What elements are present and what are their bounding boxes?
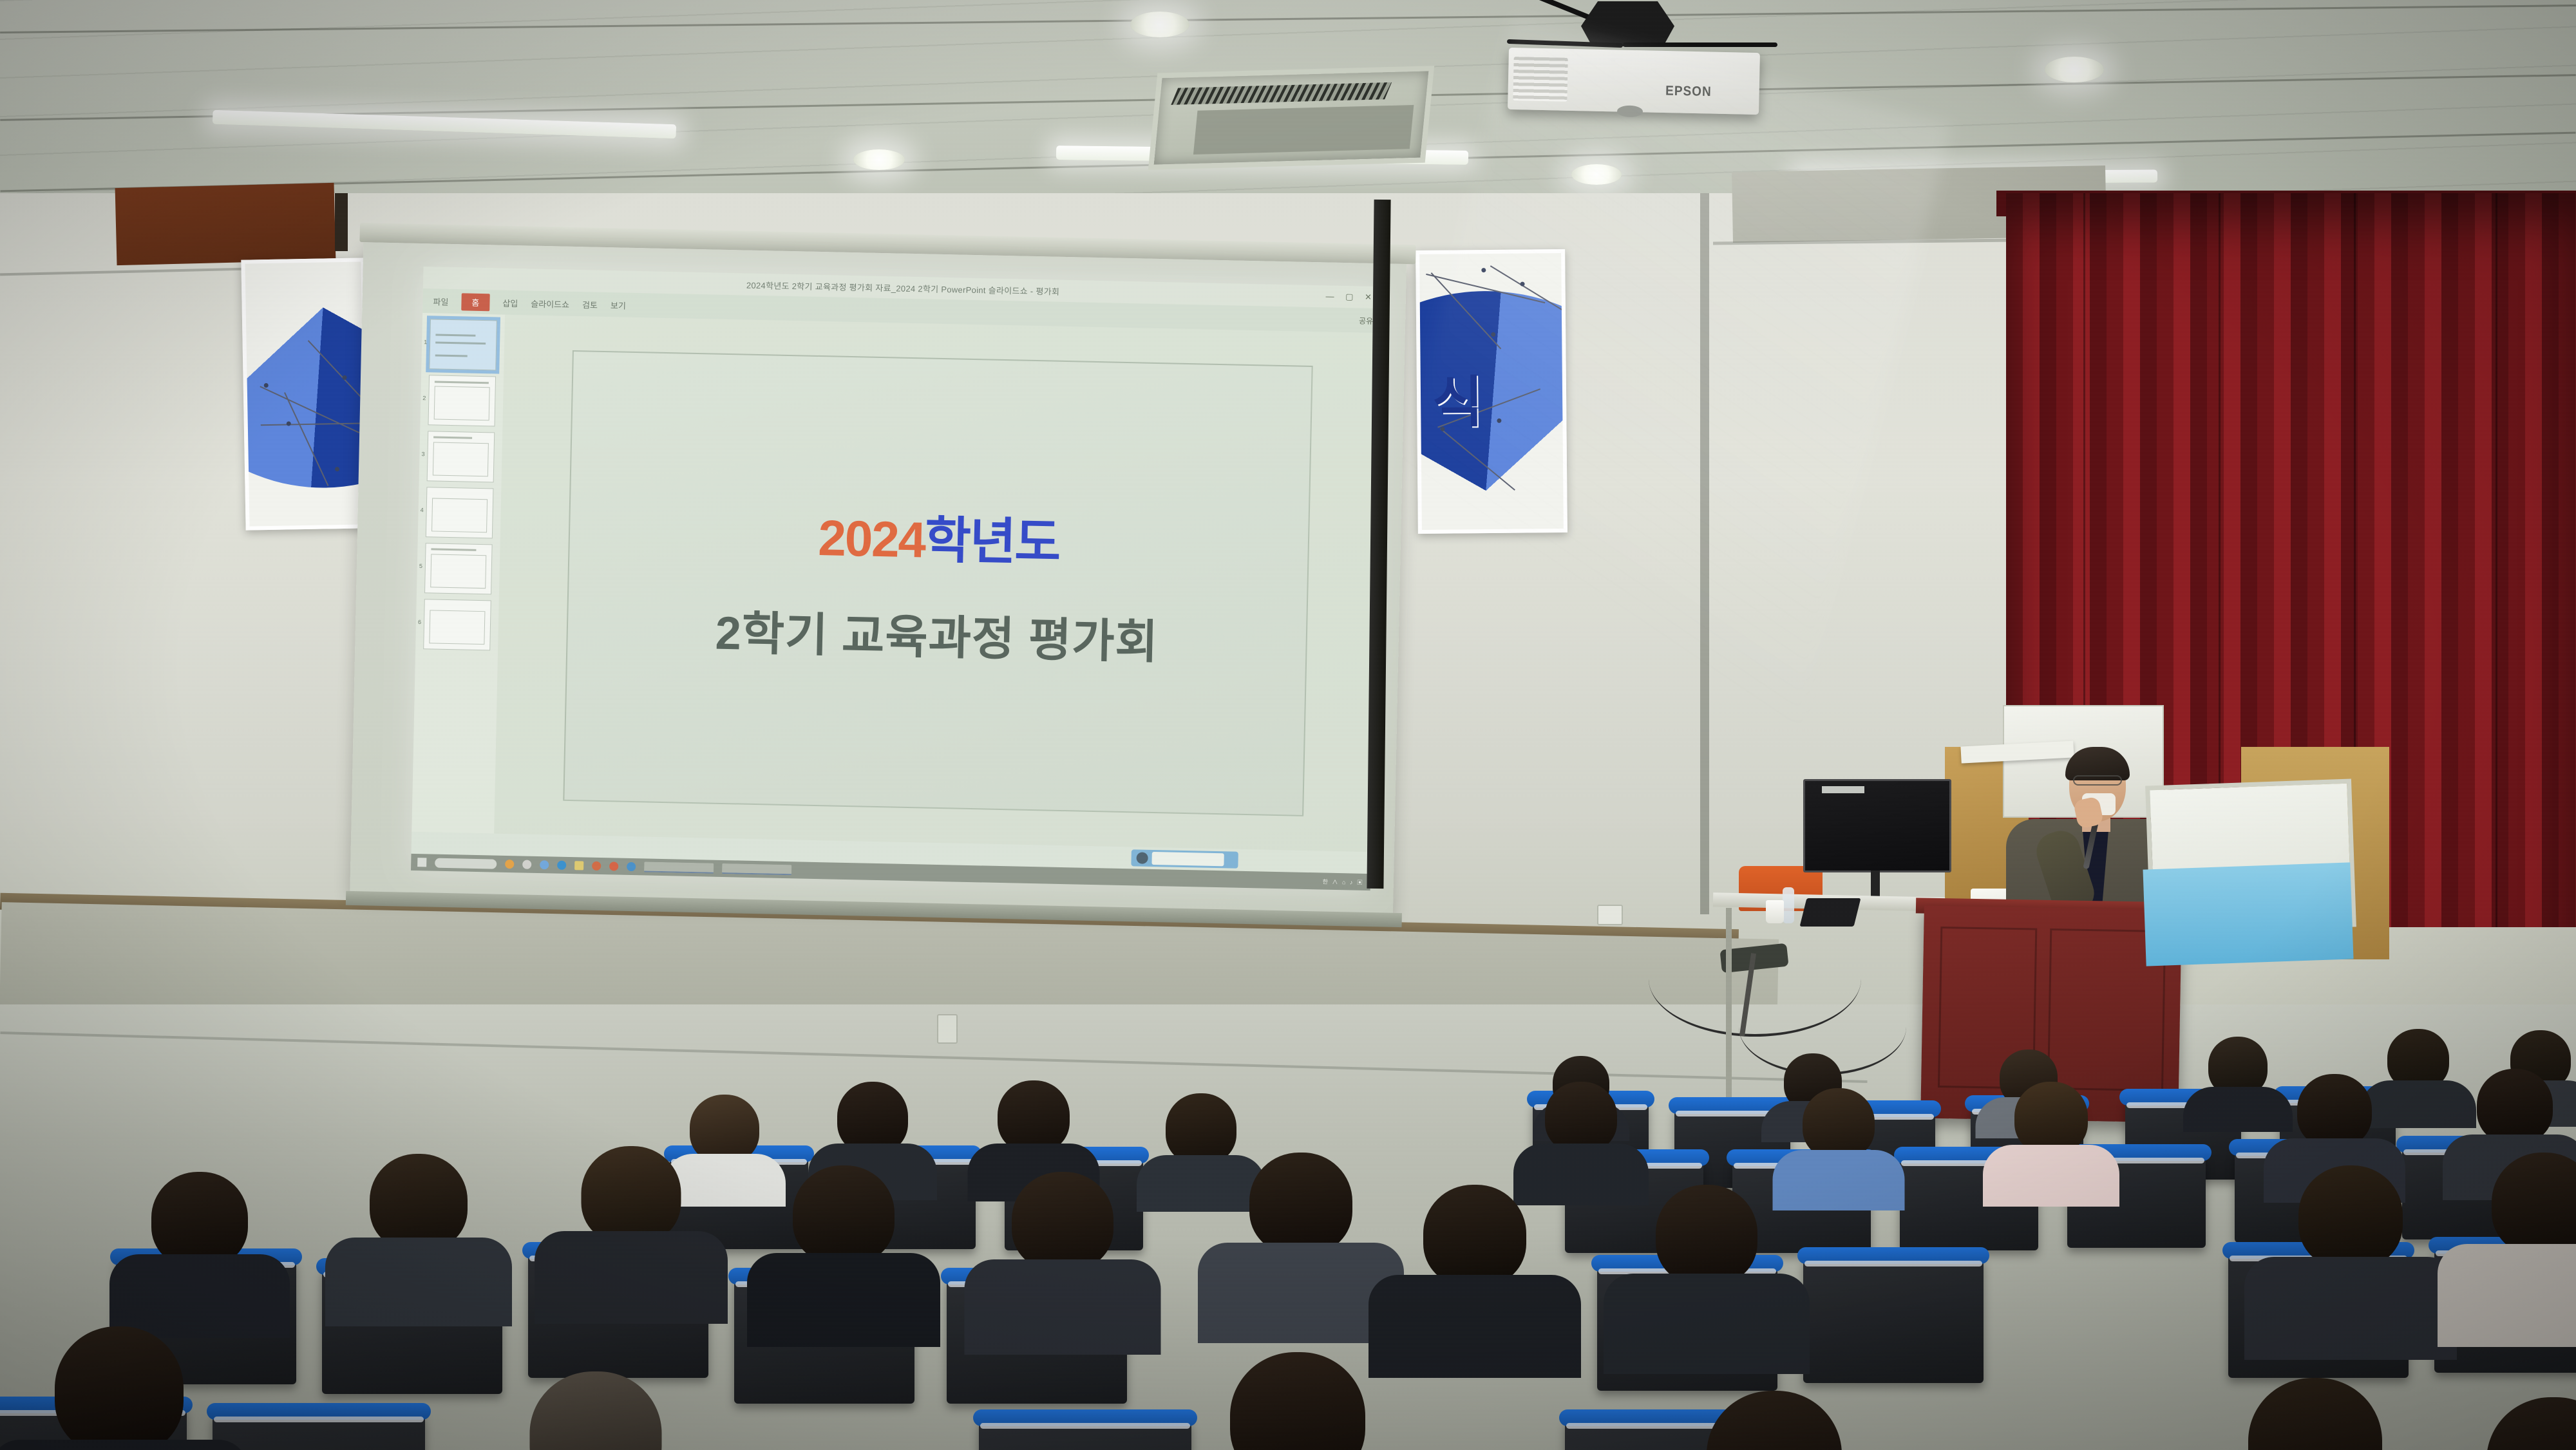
projector: EPSON <box>1508 48 1760 115</box>
person-head <box>370 1154 468 1250</box>
ceiling-downlight <box>1571 164 1622 185</box>
person-head <box>2297 1074 2372 1147</box>
ribbon-tab-review[interactable]: 검토 <box>582 298 598 310</box>
taskbar-window-button[interactable]: 2024학년도 2학기... <box>644 862 714 873</box>
wall-seam <box>1700 193 1709 914</box>
desk-monitor <box>1803 779 1951 872</box>
slide-thumbnail-number: 3 <box>421 451 424 457</box>
person-head <box>1230 1352 1365 1450</box>
projector-ceiling-mount <box>1581 1 1674 46</box>
slide-thumbnail[interactable]: 5 <box>424 543 493 594</box>
audience-member <box>2293 1165 2409 1326</box>
seat[interactable] <box>213 1410 425 1450</box>
slide-thumbnail[interactable]: 1 <box>429 319 497 370</box>
ribbon-tab-slideshow[interactable]: 슬라이드쇼 <box>531 297 569 310</box>
banner-right: 식 <box>1416 249 1567 534</box>
person-shoulders <box>1983 1145 2119 1207</box>
person-shoulders <box>0 1440 248 1450</box>
wall-outlet <box>1597 905 1623 925</box>
monitor-label-sticker <box>1822 786 1864 793</box>
chrome-icon[interactable] <box>627 862 636 871</box>
audience-member <box>2009 1082 2093 1185</box>
current-slide: 2024학년도 2학기 교육과정 평가회 <box>563 350 1312 816</box>
glasses-icon <box>2073 775 2122 786</box>
taskbar-window-button[interactable]: 2024학년도 4회... <box>722 863 791 875</box>
system-tray[interactable]: 한 ∧ ⌂ ♪ ▣ <box>1323 877 1364 886</box>
window-controls[interactable]: — ▢ ✕ <box>1325 291 1376 303</box>
file-explorer-icon[interactable] <box>574 861 583 870</box>
audience-member <box>45 1326 193 1450</box>
person-shoulders <box>1773 1150 1905 1210</box>
ppt-slide-thumbnail-panel[interactable]: 1 2 3 4 <box>412 313 505 834</box>
slide-thumbnail[interactable]: 3 <box>427 431 495 482</box>
seat[interactable] <box>1803 1254 1984 1383</box>
audience-member <box>1243 1153 1359 1313</box>
ppt-slide-canvas: 2024학년도 2학기 교육과정 평가회 <box>494 315 1382 852</box>
seat[interactable] <box>979 1417 1191 1450</box>
audience-member <box>683 1095 766 1185</box>
slide-thumbnail[interactable]: 6 <box>423 599 491 650</box>
audience-area: B열 4 <box>0 992 2576 1450</box>
audience-member <box>831 1082 914 1178</box>
person-head <box>793 1165 895 1265</box>
projector-mount-arm <box>1623 42 1777 47</box>
person-head <box>998 1080 1070 1153</box>
person-shoulders <box>535 1231 728 1324</box>
person-shoulders <box>1368 1275 1581 1378</box>
audience-member <box>1005 1172 1121 1326</box>
ribbon-tab-view[interactable]: 보기 <box>611 299 626 311</box>
person-head <box>1656 1185 1757 1285</box>
slide-thumbnail[interactable]: 4 <box>426 487 494 538</box>
taskbar-app-icon[interactable] <box>592 862 601 871</box>
person-head <box>1803 1088 1875 1159</box>
slide-thumbnail-number: 2 <box>422 395 426 401</box>
person-head <box>2477 1069 2553 1144</box>
person-shoulders <box>109 1254 290 1338</box>
audience-member <box>786 1165 902 1320</box>
ribbon-tab-insert[interactable]: 삽입 <box>502 296 518 308</box>
person-head <box>2492 1153 2576 1256</box>
person-shoulders <box>1513 1144 1649 1205</box>
person-shoulders <box>2244 1257 2457 1360</box>
slide-title-line2: 2학기 교육과정 평가회 <box>715 594 1159 671</box>
ribbon-tab-autosave[interactable]: 파일 <box>433 295 448 307</box>
projector-vent <box>1513 57 1567 102</box>
person-shoulders <box>1604 1274 1810 1374</box>
audience-member <box>2241 1378 2389 1450</box>
laptop <box>1800 898 1861 927</box>
banner-network-graphic <box>245 261 365 526</box>
audience-member <box>522 1371 670 1450</box>
projector-lens <box>1617 105 1643 117</box>
person-shoulders <box>965 1259 1161 1355</box>
audience-member <box>142 1172 258 1313</box>
wall-wood-panel <box>115 183 336 265</box>
audience-member <box>2486 1153 2576 1313</box>
slide-title-year-suffix: 학년도 <box>924 511 1060 570</box>
ppt-search-input[interactable] <box>1151 852 1224 866</box>
person-shoulders <box>2360 1080 2476 1128</box>
audience-member <box>2383 1029 2454 1106</box>
person-head <box>2014 1082 2088 1154</box>
audience-member <box>1224 1352 1372 1450</box>
person-head <box>1545 1082 1617 1153</box>
projected-powerpoint-window: 2024학년도 2학기 교육과정 평가회 자료_2024 2학기 PowerPo… <box>411 267 1383 890</box>
slide-thumbnail[interactable]: 2 <box>428 375 496 426</box>
ribbon-tab-file[interactable]: 홈 <box>461 293 490 311</box>
search-icon <box>1136 852 1148 863</box>
ceiling-downlight <box>1130 12 1189 37</box>
taskbar-app-icon[interactable] <box>609 862 618 871</box>
audience-member <box>2202 1037 2273 1114</box>
person-head <box>1423 1185 1526 1286</box>
start-menu-icon[interactable] <box>417 858 426 867</box>
person-head <box>2298 1165 2403 1268</box>
person-shoulders <box>325 1238 512 1326</box>
ceiling-seam <box>0 5 2576 33</box>
audience-member <box>1700 1391 1848 1450</box>
ppt-document-title: 2024학년도 2학기 교육과정 평가회 자료_2024 2학기 PowerPo… <box>746 279 1060 297</box>
slide-title-year: 2024 <box>818 509 925 568</box>
slide-thumbnail-number: 5 <box>419 563 422 569</box>
blue-board <box>2143 862 2353 966</box>
person-head <box>2486 1397 2576 1450</box>
person-head <box>55 1326 184 1450</box>
water-bottle <box>1783 887 1794 923</box>
taskbar-app-icon[interactable] <box>522 860 531 869</box>
person-shoulders <box>747 1253 940 1347</box>
ppt-search-badge[interactable] <box>1131 849 1238 868</box>
person-head <box>1707 1391 1842 1450</box>
person-head <box>1012 1172 1113 1271</box>
banner-right-text: 식 <box>1432 357 1481 438</box>
edge-icon[interactable] <box>557 861 566 870</box>
auditorium-photo: EPSON <box>0 0 2576 1450</box>
person-head <box>1249 1153 1352 1254</box>
banner-left <box>241 258 369 530</box>
audience-member <box>1649 1185 1765 1346</box>
paper-cup <box>1766 900 1784 923</box>
audience-member <box>992 1080 1075 1177</box>
audience-member <box>1797 1088 1880 1191</box>
audience-member <box>1159 1093 1243 1190</box>
audience-member <box>2479 1397 2576 1450</box>
taskbar-app-icon[interactable] <box>505 860 514 869</box>
ppt-share-button[interactable]: 공유 <box>1359 315 1373 326</box>
wall-bracket <box>335 193 348 251</box>
ceiling-downlight <box>2045 57 2104 82</box>
slide-thumbnail-number: 1 <box>424 339 427 345</box>
person-head <box>151 1172 248 1267</box>
projector-brand-label: EPSON <box>1665 84 1712 100</box>
ceiling-downlight <box>853 149 905 170</box>
audience-member <box>1417 1185 1533 1346</box>
person-shoulders <box>2438 1244 2576 1347</box>
slide-thumbnail-number: 4 <box>421 507 424 513</box>
taskbar-search-input[interactable] <box>435 858 497 869</box>
ceiling-ac-vent <box>1148 66 1434 170</box>
audience-member <box>1539 1082 1623 1185</box>
taskbar-app-icon[interactable] <box>540 860 549 869</box>
person-head <box>582 1146 681 1244</box>
audience-member <box>361 1154 477 1302</box>
person-shoulders <box>2183 1087 2293 1132</box>
screen-surface: 2024학년도 2학기 교육과정 평가회 자료_2024 2학기 PowerPo… <box>350 242 1406 914</box>
audience-member <box>573 1146 689 1301</box>
projection-screen: 2024학년도 2학기 교육과정 평가회 자료_2024 2학기 PowerPo… <box>346 193 1417 936</box>
slide-thumbnail-number: 6 <box>418 619 421 625</box>
person-head <box>690 1095 759 1163</box>
slide-title-line1: 2024학년도 <box>818 498 1061 575</box>
person-head <box>1166 1093 1236 1164</box>
person-head <box>2248 1378 2382 1450</box>
person-head <box>530 1371 662 1450</box>
